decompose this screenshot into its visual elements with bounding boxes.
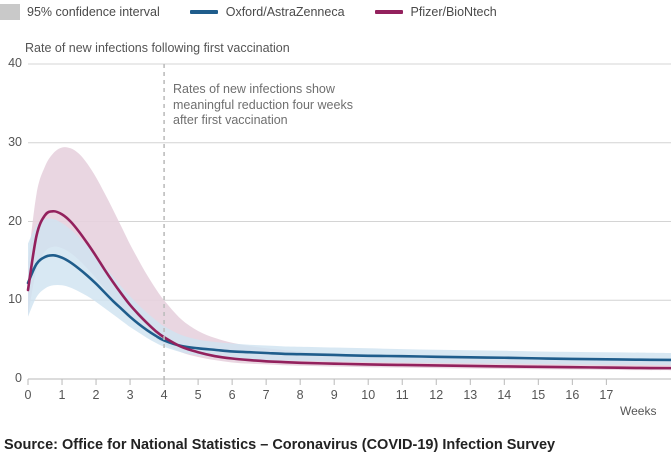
x-tick-label: 17	[596, 388, 616, 402]
chart-source-note: Source: Office for National Statistics –…	[4, 437, 555, 453]
y-tick-label: 10	[0, 292, 22, 306]
x-tick-label: 10	[358, 388, 378, 402]
x-tick-label: 12	[426, 388, 446, 402]
x-tick-label: 15	[528, 388, 548, 402]
y-tick-label: 0	[0, 371, 22, 385]
y-tick-label: 40	[0, 56, 22, 70]
y-tick-label: 30	[0, 135, 22, 149]
y-tick-label: 20	[0, 214, 22, 228]
x-tick-label: 14	[494, 388, 514, 402]
x-tick-label: 9	[324, 388, 344, 402]
x-tick-label: 5	[188, 388, 208, 402]
x-tick-label: 1	[52, 388, 72, 402]
confidence-band-pfizer	[28, 147, 671, 370]
x-tick-label: 4	[154, 388, 174, 402]
x-tick-label: 0	[18, 388, 38, 402]
x-tick-label: 3	[120, 388, 140, 402]
x-tick-label: 16	[562, 388, 582, 402]
x-tick-label: 13	[460, 388, 480, 402]
x-tick-label: 11	[392, 388, 412, 402]
chart-plot-area	[0, 0, 671, 424]
x-tick-label: 6	[222, 388, 242, 402]
x-tick-label: 7	[256, 388, 276, 402]
chart-annotation-text: Rates of new infections show meaningful …	[173, 82, 353, 129]
x-tick-label: 8	[290, 388, 310, 402]
x-tick-label: 2	[86, 388, 106, 402]
x-axis-title: Weeks	[620, 404, 656, 418]
